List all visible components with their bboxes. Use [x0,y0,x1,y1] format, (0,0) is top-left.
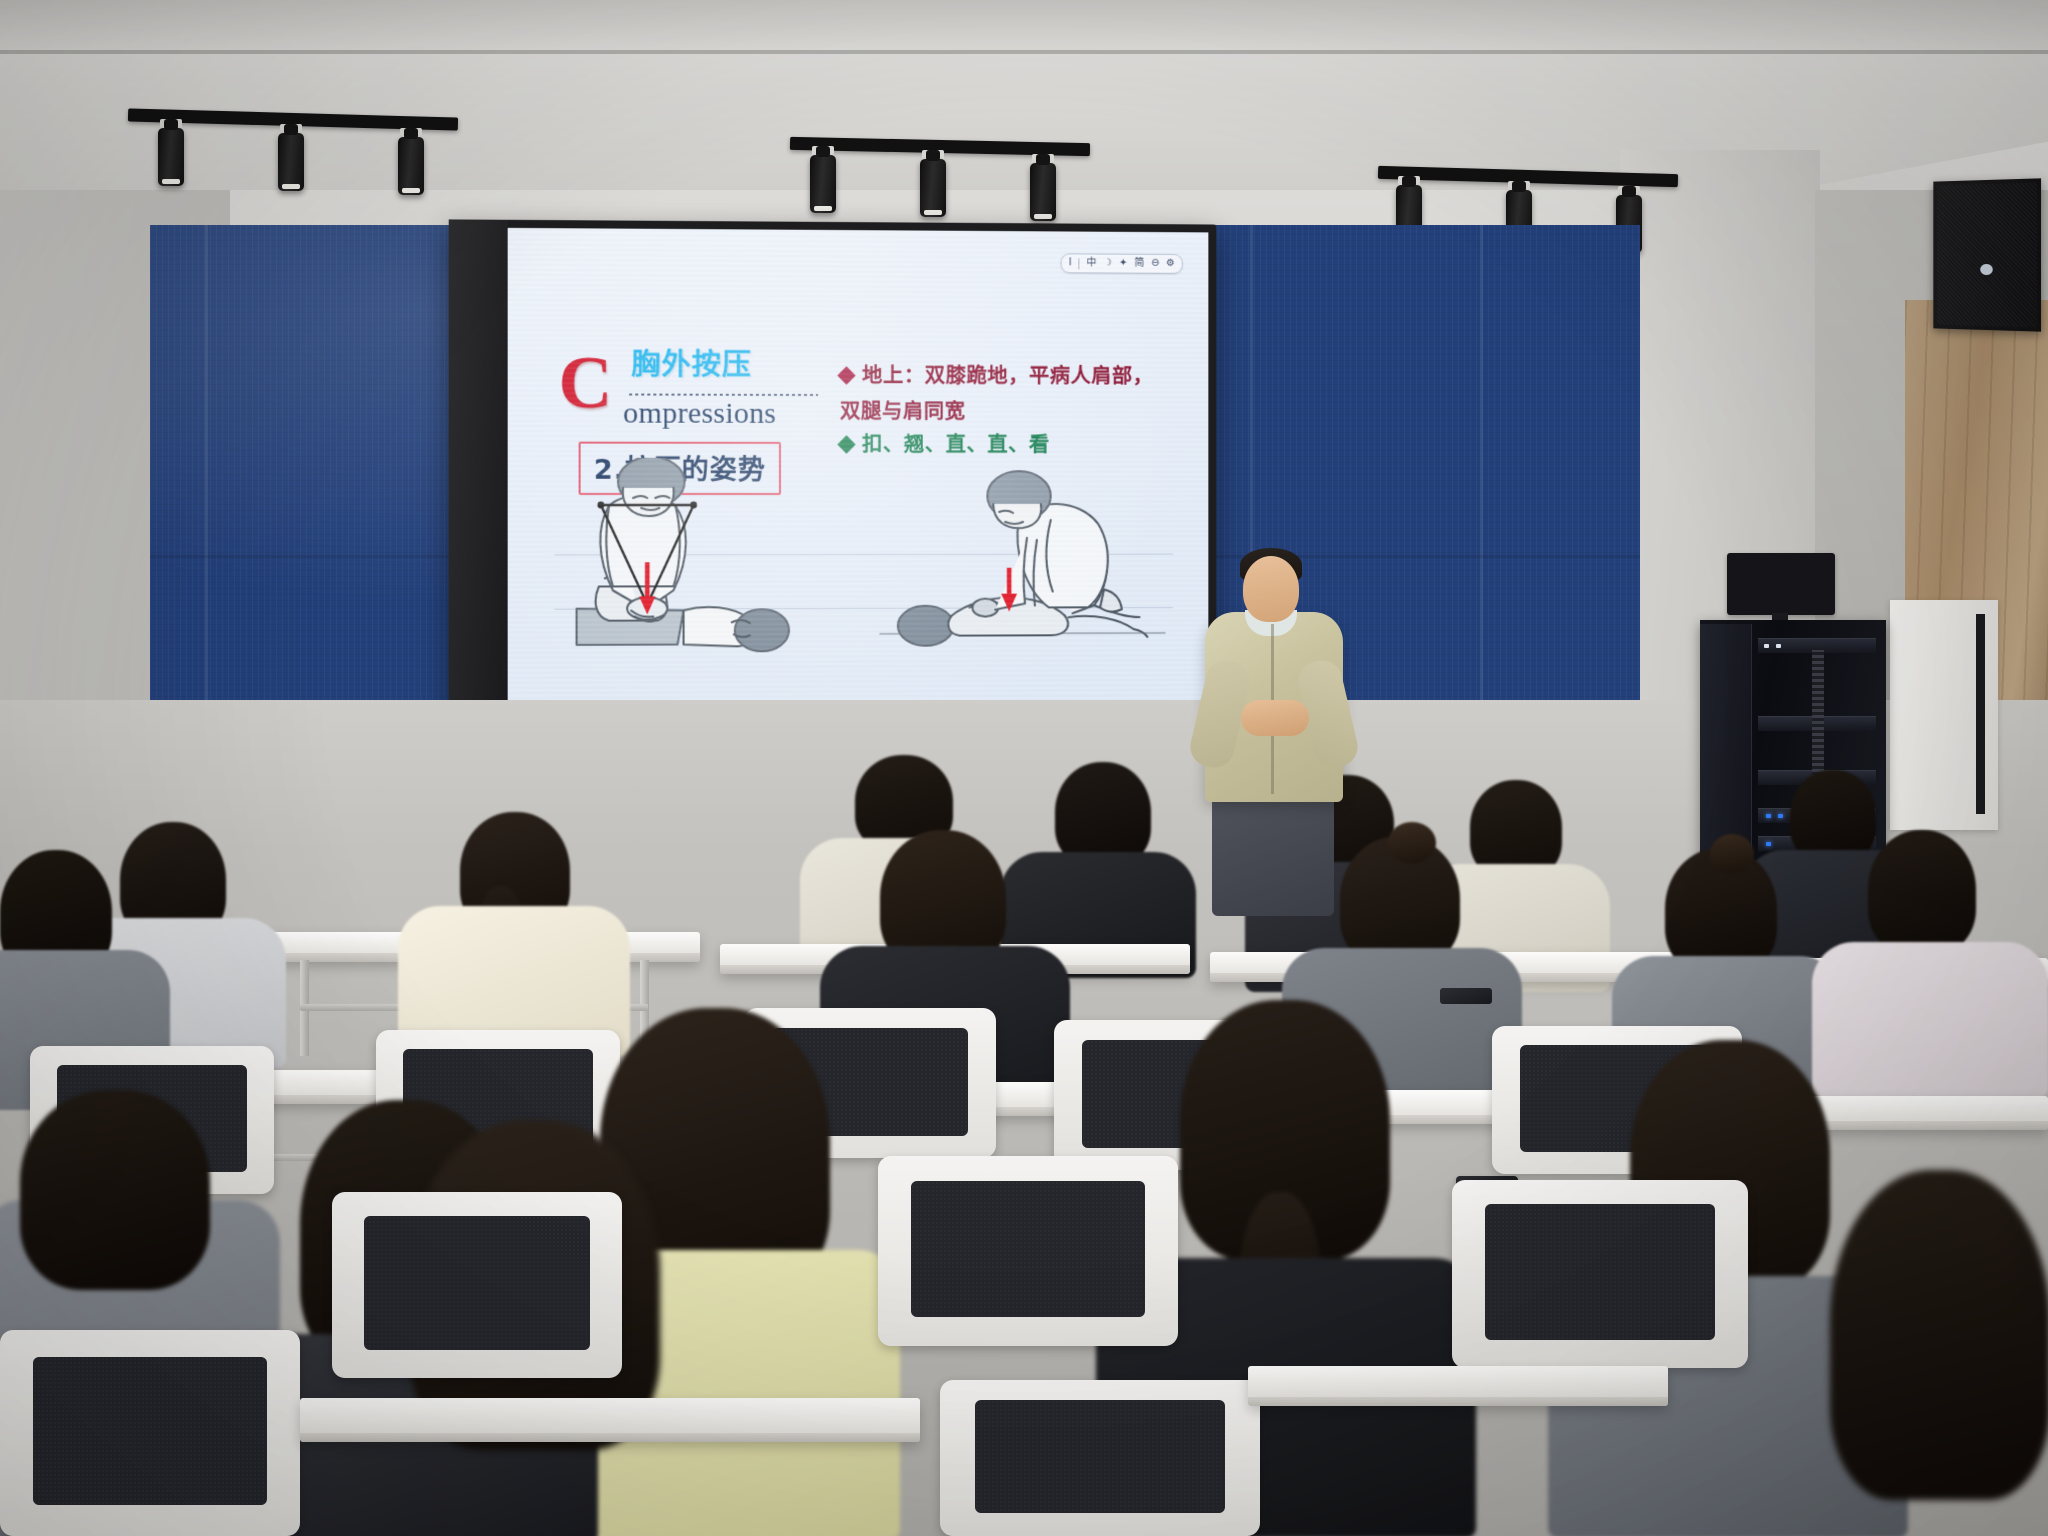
ceiling-edge-line [0,50,2048,54]
status-led [1766,814,1771,818]
bullet-item: 扣、翘、直、直、看 [840,431,1187,458]
slide-heading-rest: ompressions [623,396,776,430]
track-spotlight [278,133,304,191]
ceiling-soffit [0,0,2048,52]
slide-title-block: 胸外按压 C ompressions 2.按压的姿势 [556,341,828,342]
cpr-figure-side-view [874,458,1171,678]
track-spotlight [158,128,184,186]
track-spotlight [920,159,946,217]
bullet-continuation: 双腿与肩同宽 [840,394,1187,425]
cabinet-slot [1976,614,1985,814]
green-diamond-icon [837,435,855,453]
bullet-text: 扣、翘、直、直、看 [862,431,1050,458]
rack-door [1700,624,1752,862]
presenter-interlocked-hands [1241,700,1309,736]
track-spotlight [810,155,836,213]
smartphone [1440,988,1492,1004]
slide-bullet-list: 地上：双膝跪地，平病人肩部， 双腿与肩同宽 扣、翘、直、直、看 [840,362,1187,463]
cpr-illustrations [554,458,1173,677]
chair[interactable] [878,1156,1178,1346]
slide-heading-initial: C [558,355,612,413]
minus-circle-icon[interactable]: ⊖ [1151,259,1159,269]
chair[interactable] [332,1192,622,1378]
track-spotlight [1030,163,1056,221]
display-bezel [449,219,508,780]
presenter-legs [1212,796,1334,916]
toolbar-divider [1079,258,1080,269]
status-led [1778,814,1783,818]
presentation-slide: I 中 ☽ ✦ 简 ⊖ ⚙ 胸外按压 C ompressions 2.按压的姿势 [508,228,1209,772]
moon-icon[interactable]: ☽ [1103,259,1112,269]
bullet-text: 地上：双膝跪地，平病人肩部， [862,362,1153,390]
classroom-photo: I 中 ☽ ✦ 简 ⊖ ⚙ 胸外按压 C ompressions 2.按压的姿势 [0,0,2048,1536]
rack-monitor [1727,553,1835,615]
desk [300,1398,920,1442]
wall-speaker [1933,178,2041,331]
sparkle-icon[interactable]: ✦ [1119,259,1127,269]
chair[interactable] [940,1380,1260,1536]
ime-toolbar[interactable]: I 中 ☽ ✦ 简 ⊖ ⚙ [1061,253,1183,274]
white-cabinet [1890,600,1998,830]
projection-display: I 中 ☽ ✦ 简 ⊖ ⚙ 胸外按压 C ompressions 2.按压的姿势 [449,219,1216,780]
chair[interactable] [0,1330,300,1536]
bullet-item: 地上：双膝跪地，平病人肩部， [840,362,1187,390]
chair[interactable] [1452,1180,1748,1368]
speaker-logo-dot [1980,264,1993,275]
text-cursor-icon[interactable]: I [1069,258,1072,268]
status-led [1776,644,1781,648]
status-led [1764,644,1769,648]
chinese-mode-icon[interactable]: 中 [1087,258,1097,268]
status-led [1766,842,1771,846]
simplified-toggle-icon[interactable]: 简 [1134,259,1144,269]
presenter-head [1243,556,1299,622]
gear-icon[interactable]: ⚙ [1166,259,1175,269]
track-spotlight [398,137,424,195]
desk [1248,1366,1668,1406]
red-diamond-icon [837,366,855,384]
slide-heading-chinese: 胸外按压 [631,341,752,384]
cpr-figure-front-view [564,458,866,679]
